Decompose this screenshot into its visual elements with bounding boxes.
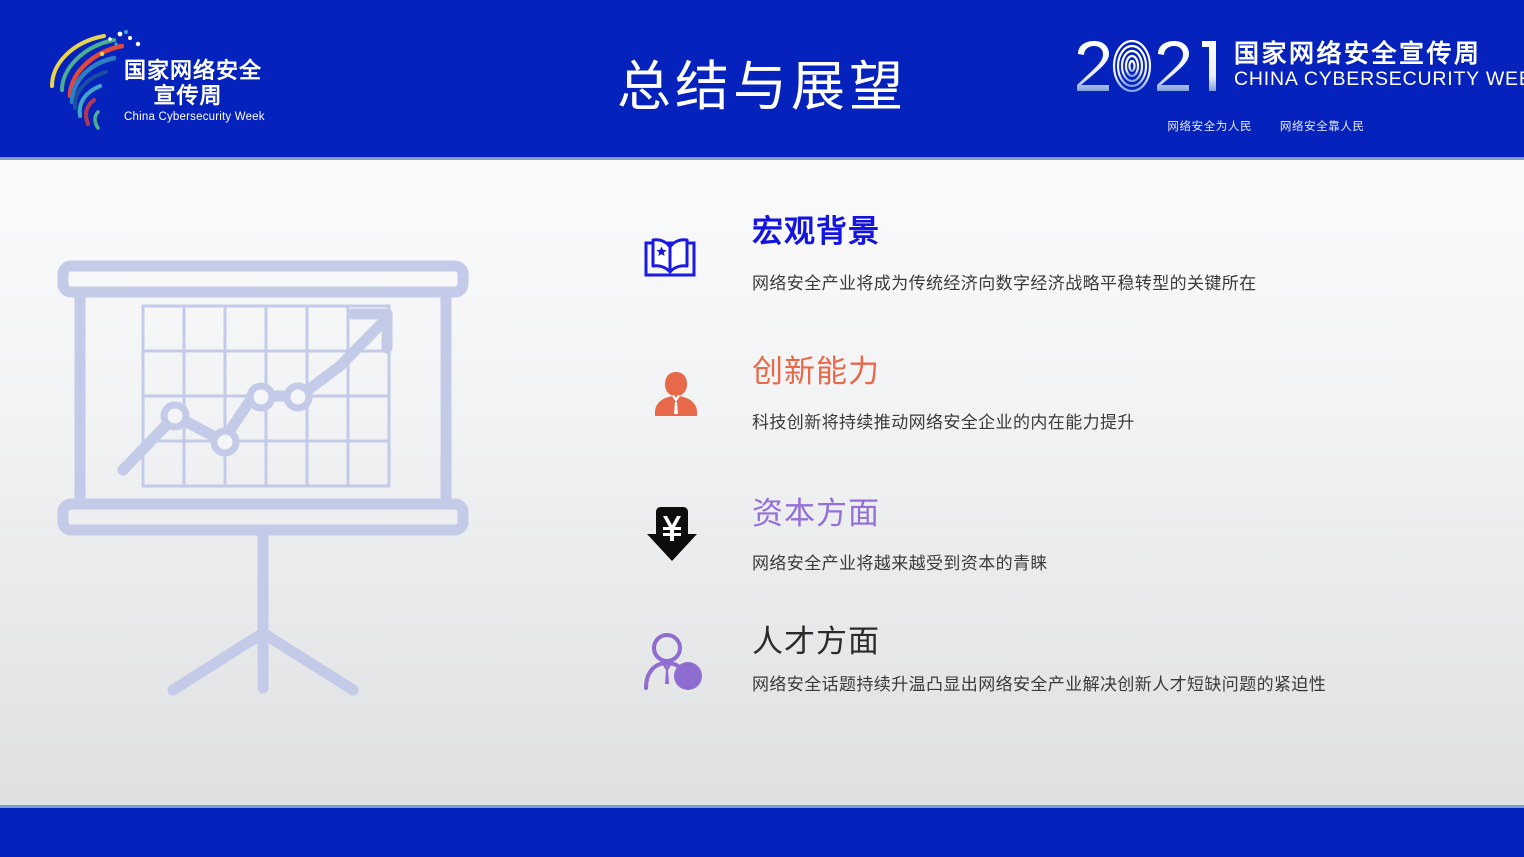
list-item-talent-aspect[interactable]: 人才方面 网络安全话题持续升温凸显出网络安全产业解决创新人才短缺问题的紧迫性 bbox=[630, 622, 1490, 742]
presentation-board-growth-chart-icon bbox=[55, 258, 480, 718]
list-item-description: 网络安全话题持续升温凸显出网络安全产业解决创新人才短缺问题的紧迫性 bbox=[752, 672, 1490, 698]
open-book-star-icon-svg bbox=[642, 228, 698, 284]
brand-right-tagline: 网络安全为人民 网络安全靠人民 bbox=[1066, 118, 1466, 134]
list-item-description: 科技创新将持续推动网络安全企业的内在能力提升 bbox=[752, 410, 1490, 436]
list-item-capital-aspect[interactable]: 资本方面 网络安全产业将越来越受到资本的青睐 bbox=[630, 494, 1490, 622]
list-item-heading: 宏观背景 bbox=[752, 212, 1490, 252]
header-accent-line bbox=[0, 157, 1524, 160]
brand-right-english: CHINA CYBERSECURITY WEEK bbox=[1234, 68, 1524, 91]
brand-right-words: 国家网络安全宣传周 CHINA CYBERSECURITY WEEK bbox=[1234, 40, 1524, 91]
brand-right-chinese: 国家网络安全宣传周 bbox=[1234, 40, 1524, 68]
slide-root: 国家网络安全 宣传周 China Cybersecurity Week 总结与展… bbox=[0, 0, 1524, 857]
open-book-star-icon bbox=[638, 224, 702, 288]
slide-footer bbox=[0, 808, 1524, 857]
list-item-body: 资本方面 网络安全产业将越来越受到资本的青睐 bbox=[752, 494, 1490, 577]
list-item-macro-background[interactable]: 宏观背景 网络安全产业将成为传统经济向数字经济战略平稳转型的关键所在 bbox=[630, 212, 1490, 352]
list-item-heading: 创新能力 bbox=[752, 352, 1490, 392]
businessman-icon-svg bbox=[652, 368, 700, 420]
yuan-down-arrow-icon-svg bbox=[644, 504, 700, 564]
list-item-description: 网络安全产业将越来越受到资本的青睐 bbox=[752, 551, 1490, 577]
businessman-icon bbox=[644, 362, 708, 426]
key-points-list: 宏观背景 网络安全产业将成为传统经济向数字经济战略平稳转型的关键所在 创新能力 … bbox=[630, 212, 1490, 742]
brand-right-year-mark bbox=[1074, 40, 1224, 92]
tagline-left: 网络安全为人民 bbox=[1167, 121, 1252, 133]
list-item-body: 人才方面 网络安全话题持续升温凸显出网络安全产业解决创新人才短缺问题的紧迫性 bbox=[752, 622, 1490, 698]
yuan-down-arrow-icon bbox=[640, 502, 704, 566]
list-item-body: 宏观背景 网络安全产业将成为传统经济向数字经济战略平稳转型的关键所在 bbox=[752, 212, 1490, 297]
tagline-right: 网络安全靠人民 bbox=[1280, 121, 1365, 133]
brand-logo-right: 国家网络安全宣传周 CHINA CYBERSECURITY WEEK 网络安全为… bbox=[1074, 40, 1474, 130]
person-talent-icon bbox=[640, 630, 704, 694]
list-item-heading: 资本方面 bbox=[752, 494, 1490, 534]
list-item-heading: 人才方面 bbox=[752, 622, 1490, 662]
slide-header: 国家网络安全 宣传周 China Cybersecurity Week 总结与展… bbox=[0, 0, 1524, 157]
list-item-description: 网络安全产业将成为传统经济向数字经济战略平稳转型的关键所在 bbox=[752, 271, 1490, 297]
list-item-innovation-capability[interactable]: 创新能力 科技创新将持续推动网络安全企业的内在能力提升 bbox=[630, 352, 1490, 494]
year-2021-fingerprint-icon bbox=[1074, 40, 1224, 92]
person-talent-icon-svg bbox=[640, 632, 704, 692]
presentation-board-illustration bbox=[55, 258, 480, 718]
list-item-body: 创新能力 科技创新将持续推动网络安全企业的内在能力提升 bbox=[752, 352, 1490, 436]
